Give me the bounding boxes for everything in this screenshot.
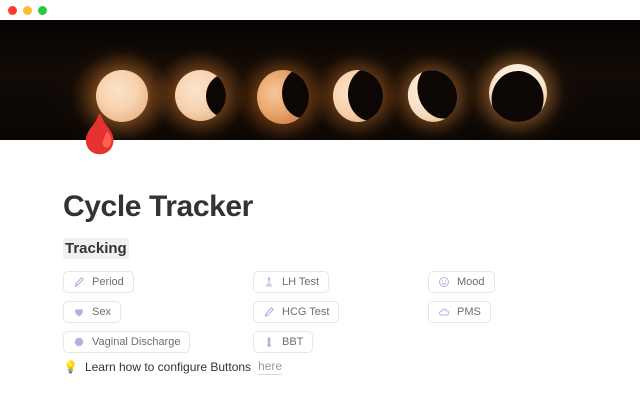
cloud-icon [438, 306, 450, 318]
page-title[interactable]: Cycle Tracker [63, 190, 253, 224]
blood-drop-icon[interactable]: 🩸 [76, 116, 112, 162]
button-bbt-label: BBT [282, 336, 303, 348]
button-lh-test-label: LH Test [282, 276, 319, 288]
eclipse-phase-5 [401, 64, 464, 129]
button-hcg-test[interactable]: HCG Test [253, 301, 339, 323]
button-pms[interactable]: PMS [428, 301, 491, 323]
button-lh-test[interactable]: LH Test [253, 271, 329, 293]
tracking-button-grid: Period Sex Vagin [63, 271, 583, 353]
button-column-1: Period Sex Vagin [63, 271, 253, 353]
lightbulb-icon: 💡 [63, 359, 78, 375]
button-vaginal-discharge-label: Vaginal Discharge [92, 336, 180, 348]
button-mood[interactable]: Mood [428, 271, 495, 293]
maximize-window-button[interactable] [38, 6, 47, 15]
close-window-button[interactable] [8, 6, 17, 15]
traffic-light-group [8, 6, 47, 15]
thermometer-icon [263, 336, 275, 348]
eclipse-phase-3 [257, 70, 309, 124]
button-pms-label: PMS [457, 306, 481, 318]
eclipse-phase-4 [333, 70, 383, 122]
button-vaginal-discharge[interactable]: Vaginal Discharge [63, 331, 190, 353]
button-sex[interactable]: Sex [63, 301, 121, 323]
button-column-3: Mood PMS [428, 271, 568, 353]
pen-icon [73, 276, 85, 288]
button-period[interactable]: Period [63, 271, 134, 293]
button-column-2: LH Test HCG Test [253, 271, 428, 353]
microscope-icon [263, 276, 275, 288]
heart-icon [73, 306, 85, 318]
pipette-icon [263, 306, 275, 318]
hint-here-link[interactable]: here [258, 358, 282, 375]
page-content: Cycle Tracker Tracking Period [0, 140, 640, 400]
smiley-icon [438, 276, 450, 288]
eclipse-phase-6 [487, 62, 549, 124]
minimize-window-button[interactable] [23, 6, 32, 15]
section-heading-tracking: Tracking [63, 238, 129, 259]
window-titlebar [0, 0, 640, 20]
app-window: 🩸 Cycle Tracker Tracking Period [0, 0, 640, 400]
hint-text: Learn how to configure Buttons [85, 359, 251, 375]
button-hcg-test-label: HCG Test [282, 306, 329, 318]
button-sex-label: Sex [92, 306, 111, 318]
eclipse-phase-2 [175, 70, 226, 121]
button-mood-label: Mood [457, 276, 485, 288]
button-bbt[interactable]: BBT [253, 331, 313, 353]
circle-icon [73, 336, 85, 348]
button-period-label: Period [92, 276, 124, 288]
configure-hint: 💡 Learn how to configure Buttons here [63, 358, 282, 375]
